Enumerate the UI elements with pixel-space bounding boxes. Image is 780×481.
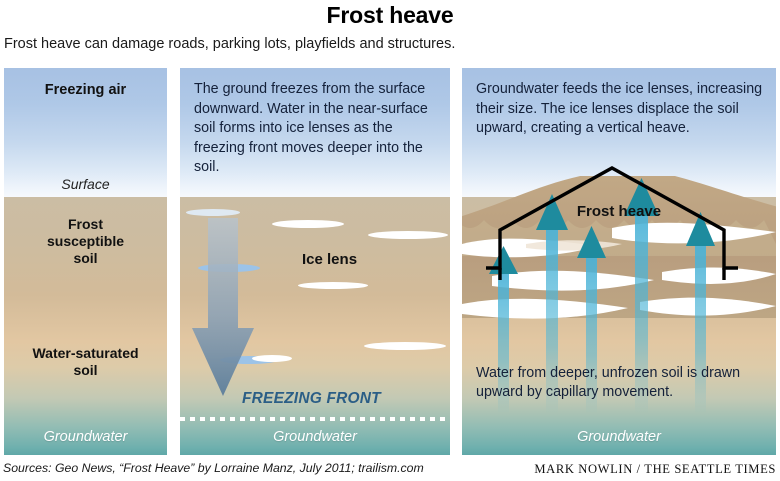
page-subtitle: Frost heave can damage roads, parking lo… [4,36,455,52]
panel-heave: Groundwater feeds the ice lenses, increa… [462,68,776,455]
panel-freezing-front: The ground freezes from the surface down… [180,68,450,455]
footer-byline: MARK NOWLIN / THE SEATTLE TIMES [534,462,776,477]
label-freezing-air: Freezing air [4,82,167,98]
freezing-front-arrow-icon [192,218,254,396]
label-water-saturated-soil: Water-saturatedsoil [4,345,167,379]
ice-lens [298,282,368,289]
freezing-front-dotted-line [180,417,450,421]
label-ice-lens: Ice lens [302,251,357,268]
ice-lens [272,220,344,228]
label-groundwater-right: Groundwater [462,429,776,445]
label-freezing-front: FREEZING FRONT [242,390,381,408]
label-groundwater-left: Groundwater [4,429,167,445]
ice-lens [186,209,240,216]
label-groundwater-middle: Groundwater [180,429,450,445]
label-frost-heave: Frost heave [462,203,776,220]
panel-soil-profile: Freezing air Surface Frostsusceptiblesoi… [4,68,167,455]
paragraph-freezing: The ground freezes from the surface down… [194,80,436,178]
page-title: Frost heave [0,2,780,29]
ice-lens [368,231,448,239]
ice-lens [252,355,292,362]
infographic-root: Frost heave Frost heave can damage roads… [0,0,780,481]
paragraph-heave: Groundwater feeds the ice lenses, increa… [476,80,766,139]
label-surface: Surface [4,176,167,192]
caption-capillary: Water from deeper, unfrozen soil is draw… [476,364,762,403]
footer-sources: Sources: Geo News, “Frost Heave” by Lorr… [3,461,424,475]
label-frost-susceptible-soil: Frostsusceptiblesoil [4,216,167,267]
ice-lens [364,342,446,350]
